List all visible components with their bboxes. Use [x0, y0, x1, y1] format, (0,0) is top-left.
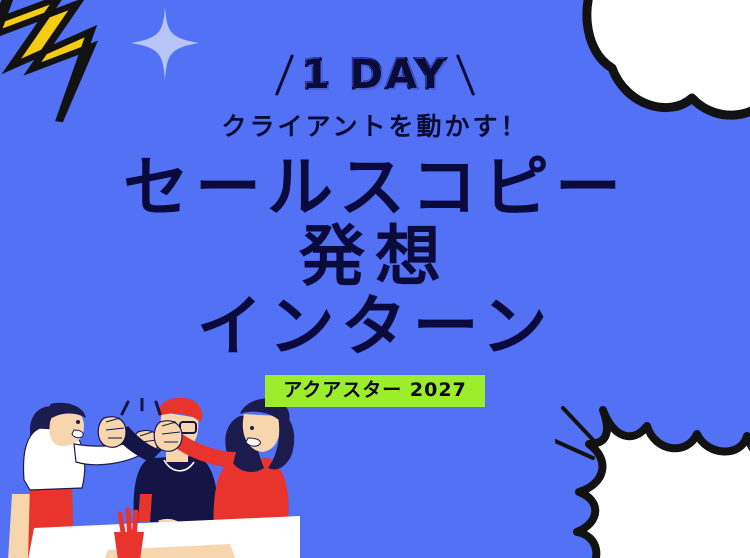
- headline-line-3: インターン: [123, 296, 627, 357]
- right-slash-icon: [456, 54, 475, 96]
- brand-year-badge: アクアスター 2027: [265, 375, 485, 407]
- headline: セールスコピー 発想 インターン: [123, 157, 627, 357]
- eyebrow-row: 1 DAY: [283, 52, 467, 98]
- headline-line-1: セールスコピー: [123, 157, 627, 218]
- poster-content: 1 DAY クライアントを動かす！ セールスコピー 発想 インターン アクアスタ…: [0, 0, 750, 558]
- eyebrow-label: 1 DAY: [302, 53, 448, 97]
- headline-line-2: 発想: [123, 226, 627, 287]
- subtitle-text: クライアントを動かす！: [221, 114, 528, 139]
- left-slash-icon: [275, 54, 294, 96]
- poster-canvas: 1 DAY クライアントを動かす！ セールスコピー 発想 インターン アクアスタ…: [0, 0, 750, 558]
